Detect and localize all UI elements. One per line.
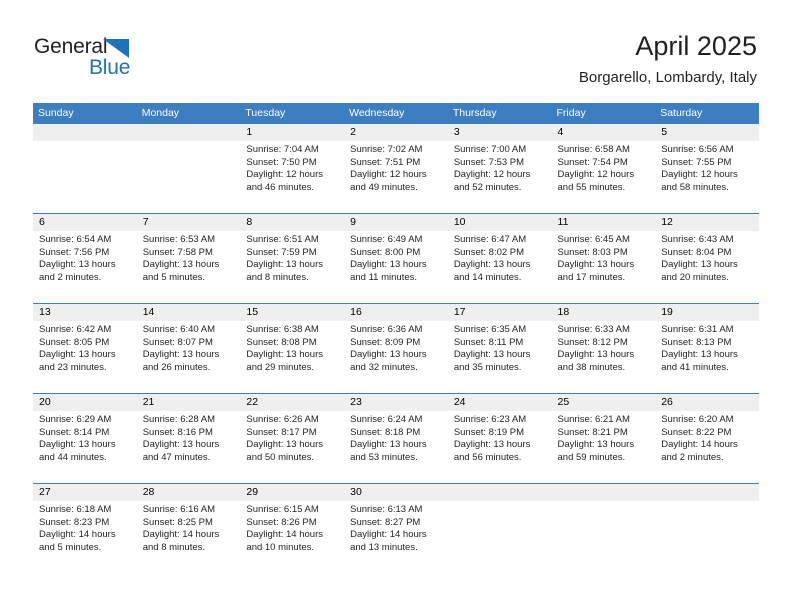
sunrise-text: Sunrise: 6:29 AM	[39, 414, 130, 427]
daylight-text-line1: Daylight: 14 hours	[143, 529, 234, 542]
page-title: April 2025	[579, 30, 757, 62]
page-subtitle-location: Borgarello, Lombardy, Italy	[579, 68, 757, 88]
weekday-header-friday: Friday	[552, 103, 656, 124]
sunrise-text: Sunrise: 6:58 AM	[558, 144, 649, 157]
day-number: 4	[552, 124, 656, 141]
daylight-text-line2: and 53 minutes.	[350, 452, 441, 465]
sunset-text: Sunset: 8:17 PM	[246, 427, 337, 440]
calendar-grid: Sunday Monday Tuesday Wednesday Thursday…	[33, 103, 759, 573]
daylight-text-line1: Daylight: 13 hours	[246, 349, 337, 362]
day-number: 6	[33, 214, 137, 231]
day-number: 2	[344, 124, 448, 141]
daylight-text-line1: Daylight: 13 hours	[558, 259, 649, 272]
day-cell: Sunrise: 6:53 AM Sunset: 7:58 PM Dayligh…	[137, 231, 241, 303]
daylight-text-line2: and 2 minutes.	[39, 272, 130, 285]
day-cell: Sunrise: 6:38 AM Sunset: 8:08 PM Dayligh…	[240, 321, 344, 393]
sunrise-text: Sunrise: 6:43 AM	[661, 234, 752, 247]
calendar-page: General Blue April 2025 Borgarello, Lomb…	[0, 0, 792, 612]
weekday-header-tuesday: Tuesday	[240, 103, 344, 124]
daylight-text-line2: and 46 minutes.	[246, 182, 337, 195]
day-cell: Sunrise: 6:28 AM Sunset: 8:16 PM Dayligh…	[137, 411, 241, 483]
day-number: 3	[448, 124, 552, 141]
daylight-text-line2: and 49 minutes.	[350, 182, 441, 195]
week-date-band: 20 21 22 23 24 25 26	[33, 394, 759, 411]
daylight-text-line2: and 38 minutes.	[558, 362, 649, 375]
day-number: 7	[137, 214, 241, 231]
sunset-text: Sunset: 7:56 PM	[39, 247, 130, 260]
day-cell: Sunrise: 6:20 AM Sunset: 8:22 PM Dayligh…	[655, 411, 759, 483]
day-number: 21	[137, 394, 241, 411]
week-row: 13 14 15 16 17 18 19 Sunrise: 6:42 AM Su…	[33, 303, 759, 393]
general-blue-logo[interactable]: General Blue	[34, 35, 174, 83]
sunrise-text: Sunrise: 6:24 AM	[350, 414, 441, 427]
daylight-text-line1: Daylight: 14 hours	[246, 529, 337, 542]
day-number: 13	[33, 304, 137, 321]
day-cell: Sunrise: 6:43 AM Sunset: 8:04 PM Dayligh…	[655, 231, 759, 303]
day-cell: Sunrise: 6:36 AM Sunset: 8:09 PM Dayligh…	[344, 321, 448, 393]
sunrise-text: Sunrise: 6:42 AM	[39, 324, 130, 337]
day-number: 5	[655, 124, 759, 141]
sunrise-text: Sunrise: 6:23 AM	[454, 414, 545, 427]
daylight-text-line1: Daylight: 13 hours	[350, 439, 441, 452]
daylight-text-line1: Daylight: 13 hours	[454, 349, 545, 362]
sunset-text: Sunset: 8:04 PM	[661, 247, 752, 260]
daylight-text-line1: Daylight: 13 hours	[661, 349, 752, 362]
day-number: 1	[240, 124, 344, 141]
daylight-text-line2: and 11 minutes.	[350, 272, 441, 285]
daylight-text-line1: Daylight: 13 hours	[39, 259, 130, 272]
sunset-text: Sunset: 7:54 PM	[558, 157, 649, 170]
sunset-text: Sunset: 8:13 PM	[661, 337, 752, 350]
day-number: 19	[655, 304, 759, 321]
daylight-text-line2: and 52 minutes.	[454, 182, 545, 195]
sunrise-text: Sunrise: 6:49 AM	[350, 234, 441, 247]
day-number: 16	[344, 304, 448, 321]
daylight-text-line2: and 5 minutes.	[39, 542, 130, 555]
day-cell: Sunrise: 7:02 AM Sunset: 7:51 PM Dayligh…	[344, 141, 448, 213]
sunrise-text: Sunrise: 6:54 AM	[39, 234, 130, 247]
day-cell: Sunrise: 6:40 AM Sunset: 8:07 PM Dayligh…	[137, 321, 241, 393]
day-number: 11	[552, 214, 656, 231]
day-number: 20	[33, 394, 137, 411]
weekday-header-wednesday: Wednesday	[344, 103, 448, 124]
sunrise-text: Sunrise: 6:16 AM	[143, 504, 234, 517]
sunset-text: Sunset: 8:11 PM	[454, 337, 545, 350]
sunrise-text: Sunrise: 6:47 AM	[454, 234, 545, 247]
daylight-text-line2: and 59 minutes.	[558, 452, 649, 465]
sunrise-text: Sunrise: 6:20 AM	[661, 414, 752, 427]
sunset-text: Sunset: 8:03 PM	[558, 247, 649, 260]
daylight-text-line1: Daylight: 13 hours	[246, 259, 337, 272]
daylight-text-line1: Daylight: 13 hours	[661, 259, 752, 272]
daylight-text-line2: and 58 minutes.	[661, 182, 752, 195]
daylight-text-line1: Daylight: 13 hours	[454, 439, 545, 452]
page-header: General Blue April 2025 Borgarello, Lomb…	[0, 0, 792, 103]
week-date-band: 1 2 3 4 5	[33, 124, 759, 141]
day-number	[552, 484, 656, 501]
week-row: 6 7 8 9 10 11 12 Sunrise: 6:54 AM Sunset…	[33, 213, 759, 303]
sunset-text: Sunset: 8:07 PM	[143, 337, 234, 350]
sunset-text: Sunset: 7:55 PM	[661, 157, 752, 170]
daylight-text-line2: and 26 minutes.	[143, 362, 234, 375]
daylight-text-line1: Daylight: 14 hours	[39, 529, 130, 542]
sunrise-text: Sunrise: 6:13 AM	[350, 504, 441, 517]
daylight-text-line2: and 8 minutes.	[143, 542, 234, 555]
daylight-text-line1: Daylight: 12 hours	[246, 169, 337, 182]
day-number: 12	[655, 214, 759, 231]
day-number: 14	[137, 304, 241, 321]
sunrise-text: Sunrise: 6:28 AM	[143, 414, 234, 427]
sunset-text: Sunset: 8:23 PM	[39, 517, 130, 530]
day-cell: Sunrise: 6:29 AM Sunset: 8:14 PM Dayligh…	[33, 411, 137, 483]
week-info-band: Sunrise: 6:18 AM Sunset: 8:23 PM Dayligh…	[33, 501, 759, 573]
sunrise-text: Sunrise: 6:31 AM	[661, 324, 752, 337]
daylight-text-line2: and 32 minutes.	[350, 362, 441, 375]
week-date-band: 6 7 8 9 10 11 12	[33, 214, 759, 231]
sunset-text: Sunset: 7:51 PM	[350, 157, 441, 170]
daylight-text-line2: and 13 minutes.	[350, 542, 441, 555]
daylight-text-line1: Daylight: 13 hours	[143, 439, 234, 452]
day-number: 18	[552, 304, 656, 321]
day-number	[33, 124, 137, 141]
sunset-text: Sunset: 8:16 PM	[143, 427, 234, 440]
daylight-text-line1: Daylight: 12 hours	[350, 169, 441, 182]
daylight-text-line2: and 55 minutes.	[558, 182, 649, 195]
day-number: 26	[655, 394, 759, 411]
daylight-text-line1: Daylight: 13 hours	[558, 349, 649, 362]
sunset-text: Sunset: 8:05 PM	[39, 337, 130, 350]
daylight-text-line1: Daylight: 13 hours	[143, 349, 234, 362]
day-cell: Sunrise: 7:04 AM Sunset: 7:50 PM Dayligh…	[240, 141, 344, 213]
day-number	[137, 124, 241, 141]
day-number: 25	[552, 394, 656, 411]
day-number: 28	[137, 484, 241, 501]
day-number	[448, 484, 552, 501]
day-cell: Sunrise: 6:31 AM Sunset: 8:13 PM Dayligh…	[655, 321, 759, 393]
weekday-header-monday: Monday	[137, 103, 241, 124]
sunset-text: Sunset: 8:19 PM	[454, 427, 545, 440]
day-number: 8	[240, 214, 344, 231]
week-info-band: Sunrise: 6:54 AM Sunset: 7:56 PM Dayligh…	[33, 231, 759, 303]
day-number: 30	[344, 484, 448, 501]
day-cell: Sunrise: 6:18 AM Sunset: 8:23 PM Dayligh…	[33, 501, 137, 573]
sunset-text: Sunset: 8:21 PM	[558, 427, 649, 440]
day-cell: Sunrise: 6:35 AM Sunset: 8:11 PM Dayligh…	[448, 321, 552, 393]
sunset-text: Sunset: 8:00 PM	[350, 247, 441, 260]
daylight-text-line2: and 47 minutes.	[143, 452, 234, 465]
day-cell: Sunrise: 6:56 AM Sunset: 7:55 PM Dayligh…	[655, 141, 759, 213]
daylight-text-line2: and 50 minutes.	[246, 452, 337, 465]
day-cell: Sunrise: 6:13 AM Sunset: 8:27 PM Dayligh…	[344, 501, 448, 573]
day-number: 9	[344, 214, 448, 231]
daylight-text-line2: and 56 minutes.	[454, 452, 545, 465]
sunset-text: Sunset: 8:09 PM	[350, 337, 441, 350]
sunset-text: Sunset: 8:12 PM	[558, 337, 649, 350]
sunset-text: Sunset: 8:18 PM	[350, 427, 441, 440]
daylight-text-line1: Daylight: 12 hours	[454, 169, 545, 182]
day-cell: Sunrise: 6:26 AM Sunset: 8:17 PM Dayligh…	[240, 411, 344, 483]
sunrise-text: Sunrise: 7:00 AM	[454, 144, 545, 157]
day-number: 10	[448, 214, 552, 231]
sunset-text: Sunset: 7:59 PM	[246, 247, 337, 260]
sunrise-text: Sunrise: 6:56 AM	[661, 144, 752, 157]
daylight-text-line2: and 44 minutes.	[39, 452, 130, 465]
day-cell: Sunrise: 6:15 AM Sunset: 8:26 PM Dayligh…	[240, 501, 344, 573]
sunset-text: Sunset: 8:14 PM	[39, 427, 130, 440]
sunrise-text: Sunrise: 6:38 AM	[246, 324, 337, 337]
daylight-text-line1: Daylight: 13 hours	[454, 259, 545, 272]
daylight-text-line2: and 14 minutes.	[454, 272, 545, 285]
sunset-text: Sunset: 8:25 PM	[143, 517, 234, 530]
day-cell: Sunrise: 6:47 AM Sunset: 8:02 PM Dayligh…	[448, 231, 552, 303]
daylight-text-line2: and 8 minutes.	[246, 272, 337, 285]
day-number: 22	[240, 394, 344, 411]
sunrise-text: Sunrise: 6:53 AM	[143, 234, 234, 247]
day-cell: Sunrise: 6:54 AM Sunset: 7:56 PM Dayligh…	[33, 231, 137, 303]
sunset-text: Sunset: 8:02 PM	[454, 247, 545, 260]
week-info-band: Sunrise: 7:04 AM Sunset: 7:50 PM Dayligh…	[33, 141, 759, 213]
day-cell: Sunrise: 7:00 AM Sunset: 7:53 PM Dayligh…	[448, 141, 552, 213]
daylight-text-line2: and 35 minutes.	[454, 362, 545, 375]
week-date-band: 27 28 29 30	[33, 484, 759, 501]
weekday-header-row: Sunday Monday Tuesday Wednesday Thursday…	[33, 103, 759, 124]
daylight-text-line1: Daylight: 13 hours	[350, 259, 441, 272]
sunrise-text: Sunrise: 6:51 AM	[246, 234, 337, 247]
daylight-text-line1: Daylight: 14 hours	[350, 529, 441, 542]
sunset-text: Sunset: 8:22 PM	[661, 427, 752, 440]
week-row: 20 21 22 23 24 25 26 Sunrise: 6:29 AM Su…	[33, 393, 759, 483]
daylight-text-line1: Daylight: 13 hours	[39, 439, 130, 452]
day-cell: Sunrise: 6:23 AM Sunset: 8:19 PM Dayligh…	[448, 411, 552, 483]
sunset-text: Sunset: 7:53 PM	[454, 157, 545, 170]
sunrise-text: Sunrise: 6:18 AM	[39, 504, 130, 517]
daylight-text-line1: Daylight: 13 hours	[350, 349, 441, 362]
day-cell: Sunrise: 6:42 AM Sunset: 8:05 PM Dayligh…	[33, 321, 137, 393]
day-number: 15	[240, 304, 344, 321]
sunrise-text: Sunrise: 6:26 AM	[246, 414, 337, 427]
day-number	[655, 484, 759, 501]
week-row: 27 28 29 30 Sunrise: 6:18 AM Sunset: 8:2…	[33, 483, 759, 573]
weekday-header-saturday: Saturday	[655, 103, 759, 124]
day-cell: Sunrise: 6:58 AM Sunset: 7:54 PM Dayligh…	[552, 141, 656, 213]
week-info-band: Sunrise: 6:29 AM Sunset: 8:14 PM Dayligh…	[33, 411, 759, 483]
daylight-text-line1: Daylight: 13 hours	[558, 439, 649, 452]
sunrise-text: Sunrise: 6:35 AM	[454, 324, 545, 337]
day-cell: Sunrise: 6:51 AM Sunset: 7:59 PM Dayligh…	[240, 231, 344, 303]
day-number: 17	[448, 304, 552, 321]
daylight-text-line2: and 20 minutes.	[661, 272, 752, 285]
sunrise-text: Sunrise: 6:36 AM	[350, 324, 441, 337]
sunset-text: Sunset: 7:58 PM	[143, 247, 234, 260]
sunset-text: Sunset: 7:50 PM	[246, 157, 337, 170]
sunrise-text: Sunrise: 6:45 AM	[558, 234, 649, 247]
daylight-text-line1: Daylight: 13 hours	[39, 349, 130, 362]
daylight-text-line2: and 17 minutes.	[558, 272, 649, 285]
sunset-text: Sunset: 8:08 PM	[246, 337, 337, 350]
day-cell: Sunrise: 6:33 AM Sunset: 8:12 PM Dayligh…	[552, 321, 656, 393]
daylight-text-line1: Daylight: 14 hours	[661, 439, 752, 452]
sunrise-text: Sunrise: 6:15 AM	[246, 504, 337, 517]
daylight-text-line2: and 41 minutes.	[661, 362, 752, 375]
daylight-text-line2: and 23 minutes.	[39, 362, 130, 375]
daylight-text-line2: and 5 minutes.	[143, 272, 234, 285]
day-number: 27	[33, 484, 137, 501]
sunrise-text: Sunrise: 6:33 AM	[558, 324, 649, 337]
week-row: 1 2 3 4 5 Sunrise: 7:04 AM Sunset: 7:50 …	[33, 124, 759, 213]
sunset-text: Sunset: 8:26 PM	[246, 517, 337, 530]
title-block: April 2025 Borgarello, Lombardy, Italy	[579, 30, 757, 88]
day-cell: Sunrise: 6:49 AM Sunset: 8:00 PM Dayligh…	[344, 231, 448, 303]
daylight-text-line1: Daylight: 13 hours	[143, 259, 234, 272]
weekday-header-sunday: Sunday	[33, 103, 137, 124]
daylight-text-line1: Daylight: 12 hours	[558, 169, 649, 182]
day-cell: Sunrise: 6:16 AM Sunset: 8:25 PM Dayligh…	[137, 501, 241, 573]
daylight-text-line2: and 2 minutes.	[661, 452, 752, 465]
daylight-text-line2: and 29 minutes.	[246, 362, 337, 375]
logo-text-blue: Blue	[89, 56, 130, 80]
daylight-text-line2: and 10 minutes.	[246, 542, 337, 555]
day-cell: Sunrise: 6:45 AM Sunset: 8:03 PM Dayligh…	[552, 231, 656, 303]
sunrise-text: Sunrise: 7:02 AM	[350, 144, 441, 157]
sunset-text: Sunset: 8:27 PM	[350, 517, 441, 530]
day-cell: Sunrise: 6:24 AM Sunset: 8:18 PM Dayligh…	[344, 411, 448, 483]
week-date-band: 13 14 15 16 17 18 19	[33, 304, 759, 321]
day-number: 29	[240, 484, 344, 501]
sunrise-text: Sunrise: 6:21 AM	[558, 414, 649, 427]
sunrise-text: Sunrise: 7:04 AM	[246, 144, 337, 157]
daylight-text-line1: Daylight: 12 hours	[661, 169, 752, 182]
weekday-header-thursday: Thursday	[448, 103, 552, 124]
daylight-text-line1: Daylight: 13 hours	[246, 439, 337, 452]
week-info-band: Sunrise: 6:42 AM Sunset: 8:05 PM Dayligh…	[33, 321, 759, 393]
day-number: 23	[344, 394, 448, 411]
day-number: 24	[448, 394, 552, 411]
day-cell: Sunrise: 6:21 AM Sunset: 8:21 PM Dayligh…	[552, 411, 656, 483]
sunrise-text: Sunrise: 6:40 AM	[143, 324, 234, 337]
